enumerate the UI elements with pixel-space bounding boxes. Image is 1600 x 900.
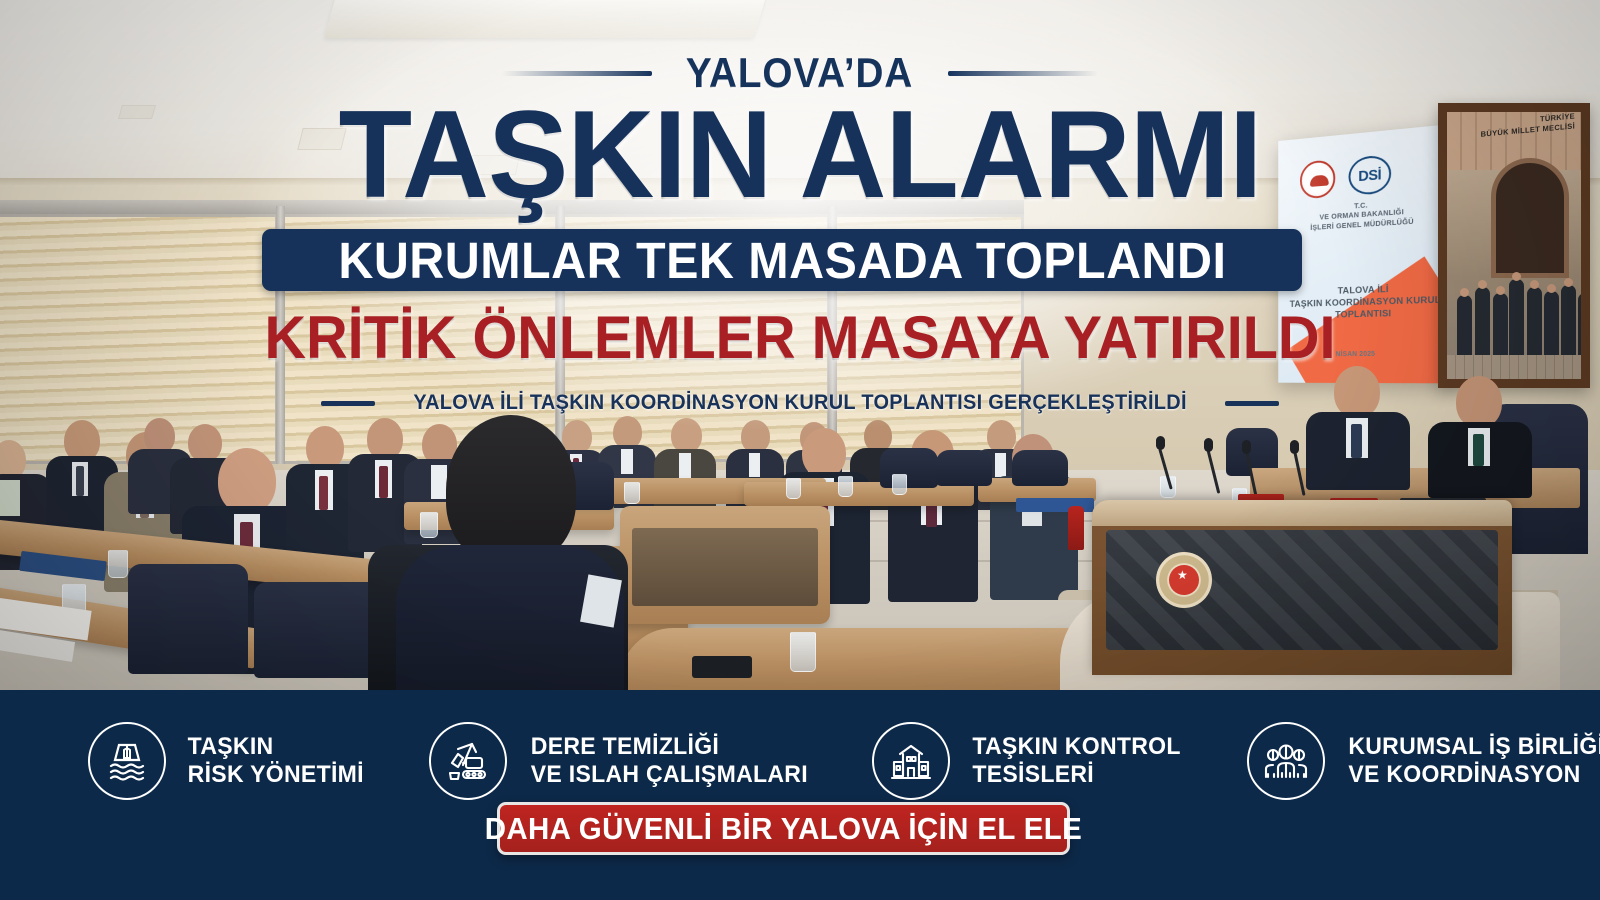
bottom-feature-bar: TAŞKIN RİSK YÖNETİMİ — [0, 690, 1600, 900]
subline-row: YALOVA İLİ TAŞKIN KOORDİNASYON KURUL TOP… — [0, 388, 1600, 418]
kicker-dash-right — [948, 71, 1098, 76]
feature-label: KURUMSAL İŞ BİRLİĞİ VE KOORDİNASYON — [1349, 733, 1600, 789]
subline-text: YALOVA İLİ TAŞKIN KOORDİNASYON KURUL TOP… — [413, 391, 1186, 415]
subtitle-banner: KURUMLAR TEK MASADA TOPLANDI — [262, 229, 1302, 291]
feature-line-2: TESİSLERİ — [972, 761, 1180, 789]
feature-line-1: TAŞKIN KONTROL — [972, 733, 1180, 761]
subline-dash-right — [1225, 401, 1279, 406]
feature-line-2: VE ISLAH ÇALIŞMALARI — [531, 761, 808, 789]
feature-line-1: DERE TEMİZLİĞİ — [531, 733, 808, 761]
feature-line-1: TAŞKIN — [188, 733, 364, 761]
feature-line-2: RİSK YÖNETİMİ — [188, 761, 364, 789]
feature-line-2: VE KOORDİNASYON — [1349, 761, 1600, 789]
kicker-dash-left — [502, 71, 652, 76]
feature-line-1: KURUMSAL İŞ BİRLİĞİ — [1349, 733, 1600, 761]
feature-item-flood-risk[interactable]: TAŞKIN RİSK YÖNETİMİ — [88, 711, 367, 811]
headline-block: YALOVA’DA TAŞKIN ALARMI KURUMLAR TEK MAS… — [0, 0, 1600, 430]
feature-item-stream-cleaning[interactable]: DERE TEMİZLİĞİ VE ISLAH ÇALIŞMALARI — [429, 711, 814, 811]
feature-label: DERE TEMİZLİĞİ VE ISLAH ÇALIŞMALARI — [531, 733, 808, 789]
subline-dash-left — [321, 401, 375, 406]
government-building-icon — [872, 722, 950, 800]
red-headline: KRİTİK ÖNLEMLER MASAYA YATIRILDI — [32, 303, 1568, 372]
flood-dam-icon — [88, 722, 166, 800]
feature-item-cooperation[interactable]: KURUMSAL İŞ BİRLİĞİ VE KOORDİNASYON — [1247, 711, 1600, 811]
feature-label: TAŞKIN KONTROL TESİSLERİ — [972, 733, 1180, 789]
cta-label: DAHA GÜVENLİ BİR YALOVA İÇİN EL ELE — [485, 811, 1082, 847]
cta-button[interactable]: DAHA GÜVENLİ BİR YALOVA İÇİN EL ELE — [497, 802, 1070, 855]
main-title: TAŞKIN ALARMI — [24, 93, 1576, 217]
people-group-icon — [1247, 722, 1325, 800]
poster-canvas: DSİ T.C. VE ORMAN BAKANLIĞI İŞLERİ GENEL… — [0, 0, 1600, 900]
feature-label: TAŞKIN RİSK YÖNETİMİ — [188, 733, 364, 789]
excavator-icon — [429, 722, 507, 800]
feature-item-control-facilities[interactable]: TAŞKIN KONTROL TESİSLERİ — [872, 711, 1185, 811]
feature-list: TAŞKIN RİSK YÖNETİMİ — [0, 706, 1600, 816]
subtitle-banner-text: KURUMLAR TEK MASADA TOPLANDI — [338, 231, 1226, 290]
